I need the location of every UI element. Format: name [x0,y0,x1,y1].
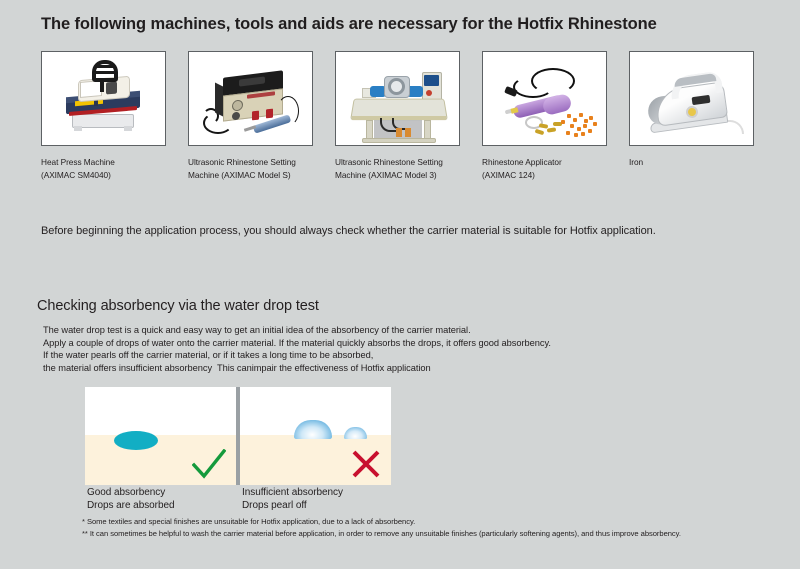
illustration-captions: Good absorbency Drops are absorbed Insuf… [87,486,407,512]
product-image-frame [188,51,313,146]
product-caption-line2: (AXIMAC SM4040) [41,169,166,182]
illustration-caption-good-line1: Good absorbency [87,486,242,499]
product-caption-line1: Heat Press Machine [41,156,166,169]
check-mark-icon [192,449,226,479]
heat-press-machine-photo [42,52,165,145]
product-caption: Heat Press Machine (AXIMAC SM4040) [41,156,166,181]
iron-photo [630,52,753,145]
product-caption: Ultrasonic Rhinestone Setting Machine (A… [335,156,460,181]
page-title: The following machines, tools and aids a… [41,15,657,34]
product-card-iron: Iron [629,51,754,146]
water-bead-large-shape [294,420,332,439]
footnotes: * Some textiles and special finishes are… [82,516,681,539]
absorbed-drop-shape [114,431,158,450]
product-card-ultrasonic-model-s: Ultrasonic Rhinestone Setting Machine (A… [188,51,313,146]
product-card-heat-press: Heat Press Machine (AXIMAC SM4040) [41,51,166,146]
illustration-caption-insufficient: Insufficient absorbency Drops pearl off [242,486,397,512]
product-image-frame [482,51,607,146]
rhinestone-applicator-photo [483,52,606,145]
product-caption: Ultrasonic Rhinestone Setting Machine (A… [188,156,313,181]
illustration-caption-good: Good absorbency Drops are absorbed [87,486,242,512]
product-image-frame [335,51,460,146]
product-caption: Iron [629,156,754,169]
product-caption-line2: Machine (AXIMAC Model 3) [335,169,460,182]
illustration-panel-insufficient-absorbency [240,387,391,485]
body-line-2: Apply a couple of drops of water onto th… [43,337,551,350]
section-heading: Checking absorbency via the water drop t… [37,298,319,314]
footnote-2: ** It can sometimes be helpful to wash t… [82,528,681,540]
illustration-caption-insufficient-line1: Insufficient absorbency [242,486,397,499]
product-card-ultrasonic-model-3: Ultrasonic Rhinestone Setting Machine (A… [335,51,460,146]
intro-paragraph: Before beginning the application process… [41,225,656,237]
illustration-caption-good-line2: Drops are absorbed [87,499,242,512]
product-caption-line2: (AXIMAC 124) [482,169,607,182]
product-caption: Rhinestone Applicator (AXIMAC 124) [482,156,607,181]
product-caption-line1: Iron [629,156,754,169]
illustration-panel-good-absorbency [85,387,236,485]
body-line-3: If the water pearls off the carrier mate… [43,349,551,362]
product-image-frame [629,51,754,146]
body-line-4: the material offers insufficient absorbe… [43,362,551,375]
body-line-1: The water drop test is a quick and easy … [43,324,551,337]
product-card-rhinestone-applicator: Rhinestone Applicator (AXIMAC 124) [482,51,607,146]
illustration-caption-insufficient-line2: Drops pearl off [242,499,397,512]
product-image-frame [41,51,166,146]
water-drop-test-illustration [85,387,391,485]
ultrasonic-rhinestone-setting-machine-model-s-photo [189,52,312,145]
ultrasonic-rhinestone-setting-machine-model-3-photo [336,52,459,145]
water-bead-small-shape [344,427,367,439]
product-caption-line2: Machine (AXIMAC Model S) [188,169,313,182]
product-caption-line1: Ultrasonic Rhinestone Setting [335,156,460,169]
section-body: The water drop test is a quick and easy … [43,324,551,374]
cross-mark-icon [351,449,381,479]
product-caption-line1: Ultrasonic Rhinestone Setting [188,156,313,169]
product-caption-line1: Rhinestone Applicator [482,156,607,169]
product-image-strip: Heat Press Machine (AXIMAC SM4040) [41,51,761,146]
footnote-1: * Some textiles and special finishes are… [82,516,681,528]
